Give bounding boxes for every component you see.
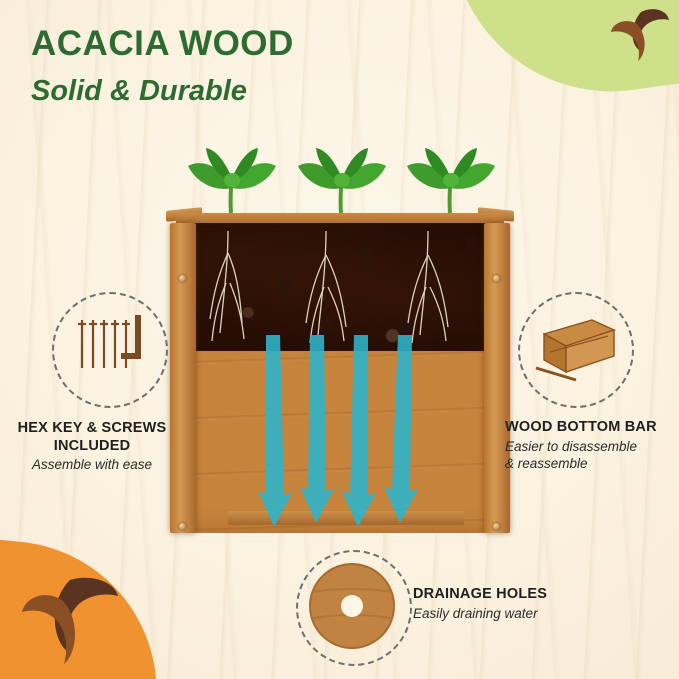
callout-wood-bottom-bar-title: WOOD BOTTOM BAR <box>505 419 679 437</box>
callout-hex-key: HEX KEY & SCREWS INCLUDED Assemble with … <box>8 420 176 474</box>
corner-post-right <box>484 223 510 533</box>
page-subtitle: Solid & Durable <box>31 76 247 106</box>
screw-icon <box>493 275 500 282</box>
screw-icon <box>493 523 500 530</box>
leaf-decoration-top-right-icon <box>601 4 671 64</box>
roots-illustration <box>176 223 504 393</box>
callout-drainage-holes-title: DRAINAGE HOLES <box>413 586 603 604</box>
box-body <box>176 223 504 533</box>
drainage-hole-icon <box>308 562 396 650</box>
screw-icon <box>179 275 186 282</box>
leaf-decoration-bottom-left-icon <box>18 574 128 669</box>
callout-hex-key-title-line2: INCLUDED <box>8 438 176 456</box>
callout-wood-bottom-bar: WOOD BOTTOM BAR Easier to disassemble & … <box>505 419 679 472</box>
folded-planter-icon <box>530 310 620 388</box>
callout-wood-bottom-bar-subtitle-line1: Easier to disassemble <box>505 439 679 456</box>
corner-post-left <box>170 223 196 533</box>
product-infographic: ACACIA WOOD Solid & Durable <box>0 0 679 679</box>
hex-key-and-screws-icon <box>66 312 152 388</box>
callout-wood-bottom-bar-subtitle-line2: & reassemble <box>505 456 679 473</box>
callout-drainage-holes-subtitle: Easily draining water <box>413 606 603 623</box>
wood-bottom-bar-part <box>228 511 464 525</box>
callout-hex-key-subtitle: Assemble with ease <box>8 457 176 474</box>
callout-drainage-holes: DRAINAGE HOLES Easily draining water <box>413 586 603 623</box>
callout-hex-key-title-line1: HEX KEY & SCREWS <box>8 420 176 438</box>
screw-icon <box>179 523 186 530</box>
page-title: ACACIA WOOD <box>31 26 294 63</box>
planter-box-illustration <box>170 205 510 540</box>
